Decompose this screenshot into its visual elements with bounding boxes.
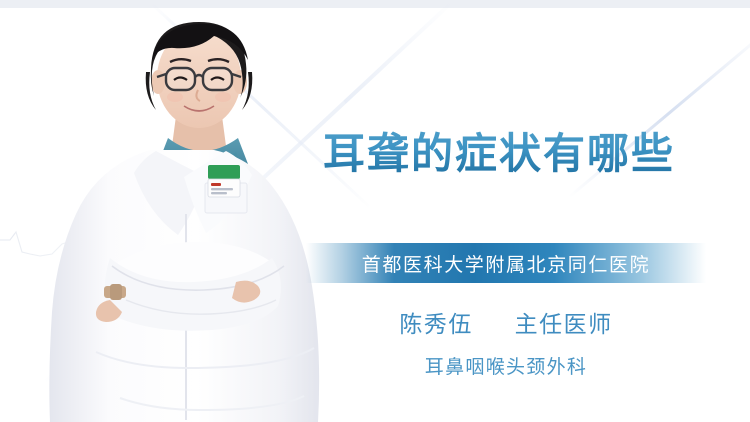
doctor-name: 陈秀伍 (399, 311, 473, 337)
doctor-title: 主任医师 (515, 311, 613, 337)
hospital-name: 首都医科大学附属北京同仁医院 (362, 250, 650, 277)
cover-canvas: 耳聋的症状有哪些 首都医科大学附属北京同仁医院 陈秀伍 主任医师 耳鼻咽喉头颈外… (0, 0, 750, 422)
hospital-banner: 首都医科大学附属北京同仁医院 (306, 243, 706, 283)
doctor-department: 耳鼻咽喉头颈外科 (306, 352, 706, 379)
doctor-name-title-row: 陈秀伍 主任医师 (306, 305, 706, 339)
page-title: 耳聋的症状有哪些 (323, 128, 723, 181)
